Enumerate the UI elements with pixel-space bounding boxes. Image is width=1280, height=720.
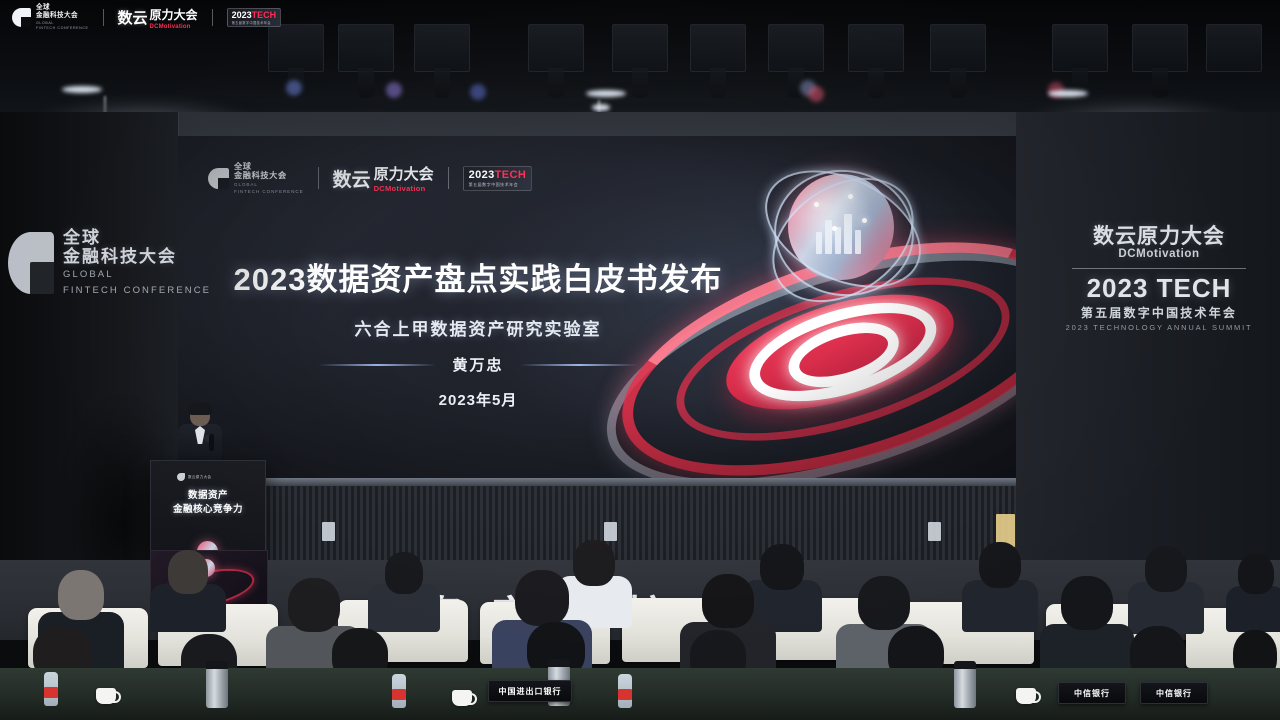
water-bottle-icon: [44, 672, 58, 706]
watermark-dcm-logo: 数云 原力大会 DCMotivation: [118, 6, 198, 30]
wall-left-cn-line2-2: 金融科技大会: [63, 247, 211, 266]
truss-fixture: [930, 24, 986, 72]
wall-right-divider-2: [1072, 268, 1246, 269]
wall-branding-right-overlay: 数云原力大会 DCMotivation 2023 TECH 第五届数字中国技术年…: [1064, 226, 1254, 332]
lighting-truss-row: [0, 24, 1280, 94]
audience-member: [962, 542, 1038, 626]
truss-fixture: [1132, 24, 1188, 72]
stage-lamp-blue-icon: [286, 80, 302, 96]
truss-fixture: [612, 24, 668, 72]
fintech-blob-logo-icon-3: [177, 473, 185, 481]
stage-light-housing: [710, 68, 726, 98]
watermark-brand-yuanli: 原力大会: [150, 8, 198, 22]
spotlight-glow-icon: [586, 90, 626, 97]
fintech-blob-logo-icon-2: [8, 232, 54, 294]
broadcast-watermark: 全球 金融科技大会 GLOBAL FINTECH CONFERENCE 数云 原…: [12, 4, 281, 31]
stage-lamp-red-icon: [808, 86, 824, 102]
audience-member: [1128, 546, 1204, 628]
watermark-en1: GLOBAL: [36, 21, 89, 26]
stage-screen-lip: [178, 478, 1016, 486]
watermark-divider-2: [212, 9, 213, 26]
water-bottle-icon: [392, 674, 406, 708]
conference-stage-photo: 全球 金融科技大会 GLOBAL FINTECH CONFERENCE 数云原力…: [0, 0, 1280, 720]
wall-right-en-sub-2: 2023 TECHNOLOGY ANNUAL SUMMIT: [1064, 323, 1254, 332]
watermark-cn2: 金融科技大会: [36, 12, 89, 20]
truss-fixture: [268, 24, 324, 72]
watermark-year-tech: TECH: [252, 10, 277, 20]
fintech-blob-logo-icon-4: [12, 8, 31, 27]
water-bottle-icon: [618, 674, 632, 708]
stage-lamp-blue-icon: [470, 84, 486, 100]
wall-right-brand-2: 数云原力大会 DCMotivation: [1064, 226, 1254, 261]
stage-light-housing: [358, 68, 374, 98]
truss-fixture: [338, 24, 394, 72]
stage-light-housing: [548, 68, 564, 98]
thermos-flask-icon: [954, 666, 976, 708]
watermark-brand-dcm: DCMotivation: [150, 24, 198, 30]
podium-line2: 金融核心竞争力: [151, 503, 265, 517]
led-presentation-screen: 全球 金融科技大会 GLOBAL FINTECH CONFERENCE 数云 原…: [178, 136, 1016, 478]
stage-light-housing: [632, 68, 648, 98]
handheld-microphone-icon: [209, 434, 214, 451]
truss-fixture: [848, 24, 904, 72]
watermark-en2: FINTECH CONFERENCE: [36, 26, 89, 31]
truss-fixture: [768, 24, 824, 72]
wall-right-year-tech-2: 2023 TECH: [1064, 275, 1254, 301]
wall-right-cn-sub-2: 第五届数字中国技术年会: [1064, 304, 1254, 321]
truss-fixture: [690, 24, 746, 72]
stage-light-housing: [434, 68, 450, 98]
wall-right-brand-shu-2: 数云: [1093, 225, 1137, 248]
name-placard: 中国进出口银行: [488, 680, 572, 702]
podium-logo-text: 数云原力大会: [188, 475, 211, 479]
tea-cup-icon: [1016, 688, 1036, 704]
tea-cup-icon: [452, 690, 472, 706]
tea-cup-icon: [96, 688, 116, 704]
wall-right-brand-yuanli-2: 原力大会: [1137, 225, 1225, 248]
watermark-year-badge: 2023TECH 第五届数字中国技术年会: [227, 8, 282, 27]
stage-light-housing: [1152, 68, 1168, 98]
stage-light-housing: [950, 68, 966, 98]
front-table: 中国进出口银行 中信银行 中信银行: [0, 668, 1280, 720]
podium-logo: 数云原力大会: [177, 473, 211, 481]
watermark-year-sub: 第五届数字中国技术年会: [232, 20, 277, 25]
stage-lamp-violet-icon: [386, 82, 402, 98]
wall-left-en-line2-2: FINTECH CONFERENCE: [63, 285, 211, 298]
stage-light-housing: [868, 68, 884, 98]
truss-fixture: [528, 24, 584, 72]
name-placard: 中信银行: [1140, 682, 1208, 704]
wall-right-brand-dcm-2: DCMotivation: [1064, 249, 1254, 261]
spotlight-glow-icon: [592, 104, 610, 111]
watermark-divider: [103, 9, 104, 26]
watermark-year: 2023: [232, 10, 252, 20]
watermark-brand-shu: 数云: [118, 7, 148, 28]
screen-vignette: [178, 136, 1016, 478]
speaker-at-podium: [176, 404, 224, 466]
podium-line1: 数据资产: [151, 489, 265, 503]
audience-member: [368, 552, 440, 626]
wall-branding-left-overlay: 全球 金融科技大会 GLOBAL FINTECH CONFERENCE: [8, 228, 211, 298]
wall-left-en-line1-2: GLOBAL: [63, 269, 211, 282]
audience-member: [1226, 554, 1280, 628]
podium-headline: 数据资产 金融核心竞争力: [151, 489, 265, 518]
wall-left-cn-line1-2: 全球: [63, 228, 211, 247]
spotlight-glow-icon: [62, 86, 102, 93]
truss-fixture: [1206, 24, 1262, 72]
watermark-fintech-logo: 全球 金融科技大会 GLOBAL FINTECH CONFERENCE: [12, 4, 89, 31]
truss-fixture: [1052, 24, 1108, 72]
truss-fixture: [414, 24, 470, 72]
name-placard: 中信银行: [1058, 682, 1126, 704]
watermark-cn1: 全球: [36, 4, 89, 12]
spotlight-glow-icon: [1048, 90, 1088, 97]
audience-member: [150, 550, 226, 626]
thermos-flask-icon: [206, 666, 228, 708]
